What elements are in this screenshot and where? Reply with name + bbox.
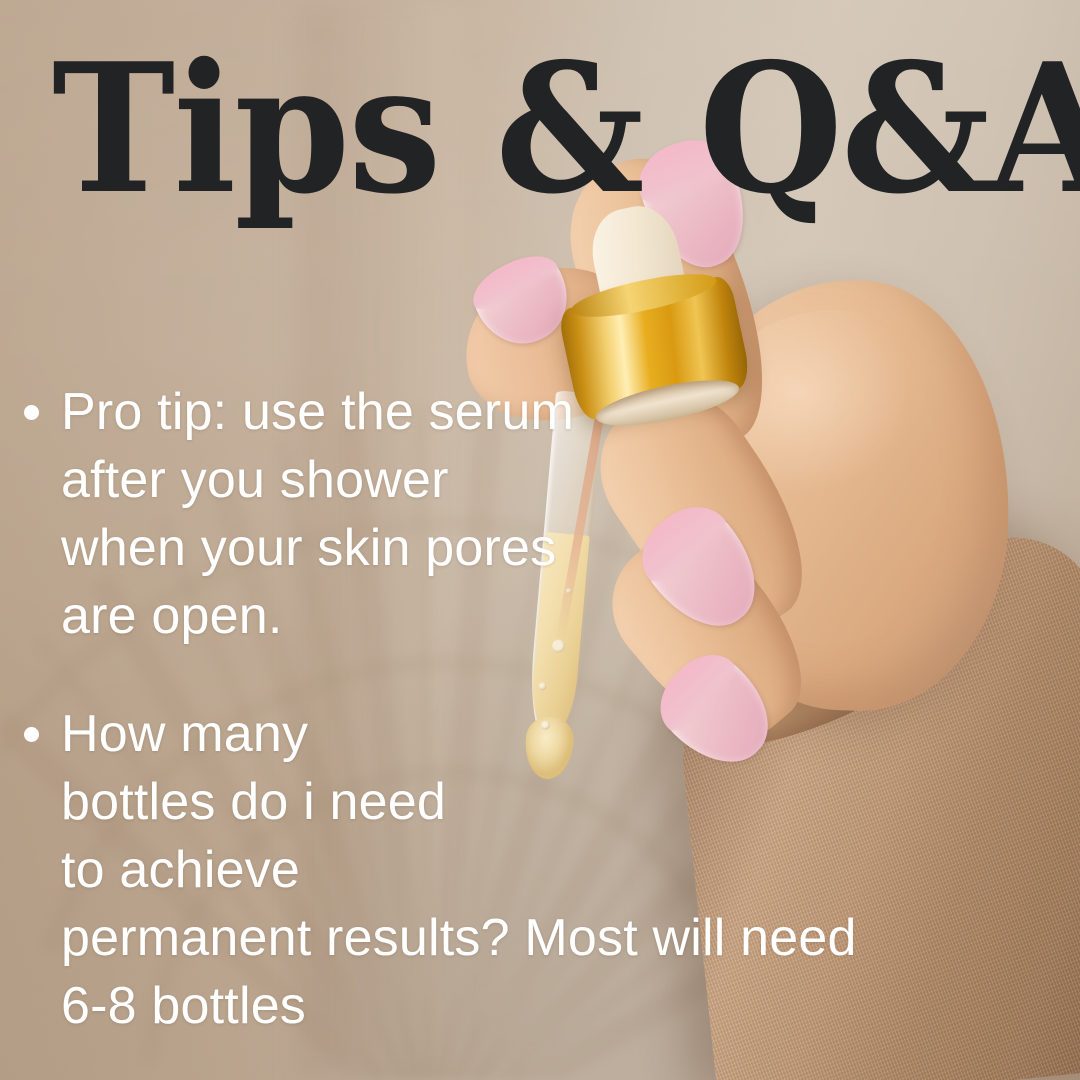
- list-item[interactable]: How many bottles do i need to achieve pe…: [24, 700, 1064, 1040]
- poster-canvas: Tips & Q&A Pro tip: use the serum after …: [0, 0, 1080, 1080]
- list-item[interactable]: Pro tip: use the serum after you shower …: [24, 378, 644, 650]
- bullet-dot-icon: [24, 727, 39, 742]
- list-item-text: Pro tip: use the serum after you shower …: [61, 378, 574, 650]
- list-item-text: How many bottles do i need to achieve pe…: [61, 700, 857, 1040]
- page-title: Tips & Q&A: [52, 52, 973, 205]
- bullet-dot-icon: [24, 405, 39, 420]
